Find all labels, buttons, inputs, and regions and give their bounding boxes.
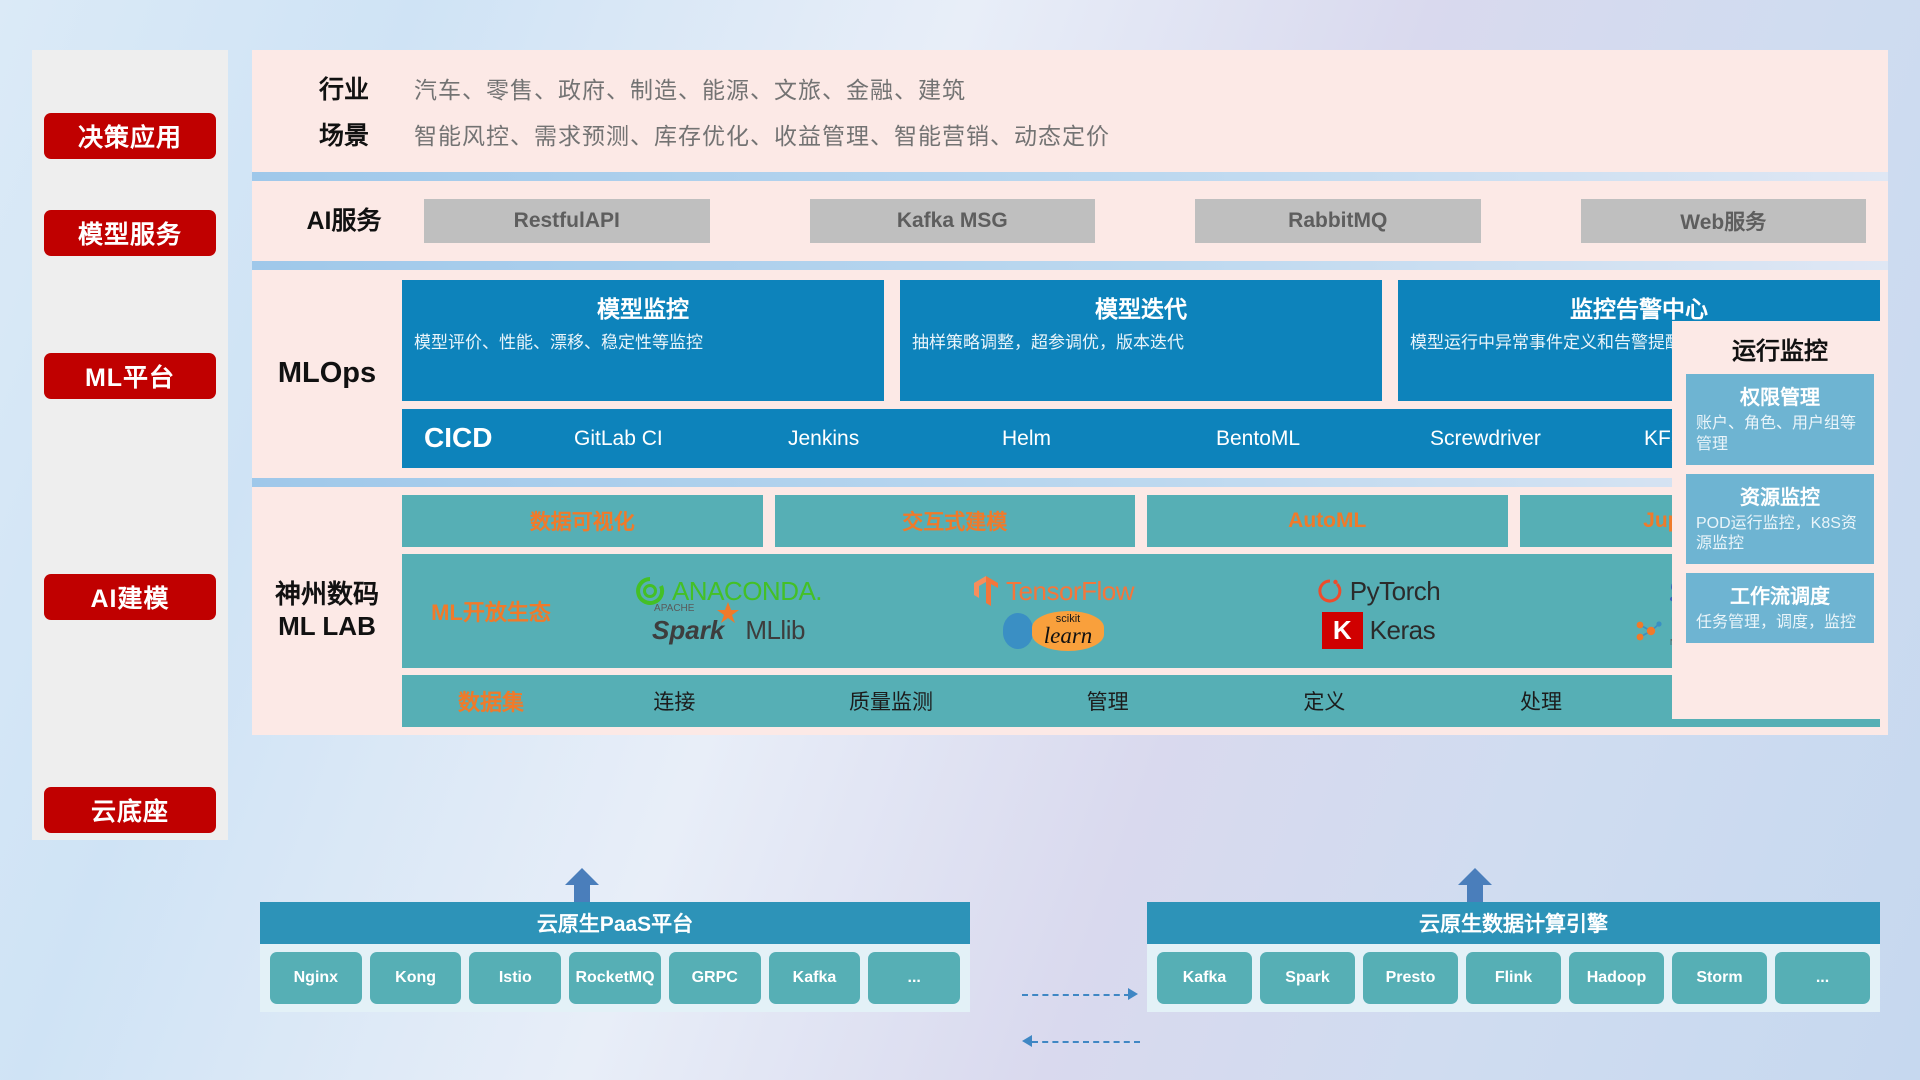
mlops-content: 模型监控 模型评价、性能、漂移、稳定性等监控 模型迭代 抽样策略调整，超参调优，…: [402, 280, 1888, 468]
paas-chip-grpc[interactable]: GRPC: [669, 952, 761, 1004]
mlops-band: MLOps 模型监控 模型评价、性能、漂移、稳定性等监控 模型迭代 抽样策略调整…: [252, 270, 1888, 478]
dataset-item-list: 连接 质量监测 管理 定义 处理 加载: [566, 686, 1866, 716]
mllib-wordmark: MLlib: [745, 615, 805, 646]
paas-chip-kafka[interactable]: Kafka: [769, 952, 861, 1004]
paas-chip-rocketmq[interactable]: RocketMQ: [569, 952, 661, 1004]
tensorflow-icon: [973, 575, 999, 607]
monitor-card-title: 权限管理: [1696, 381, 1864, 410]
logo-pytorch[interactable]: PyTorch: [1216, 576, 1541, 607]
ecosystem-logo-grid: ANACONDA. TensorFlow: [566, 571, 1866, 651]
cicd-item-bentoml[interactable]: BentoML: [1216, 428, 1430, 449]
ml-lab-label-line2: ML LAB: [275, 611, 379, 643]
logo-spark-mllib[interactable]: APACHE Spark MLlib: [566, 615, 891, 646]
cicd-item-jenkins[interactable]: Jenkins: [788, 428, 1002, 449]
mlops-card-desc: 抽样策略调整，超参调优，版本迭代: [912, 332, 1370, 355]
cicd-title: CICD: [424, 422, 574, 454]
ai-service-band: AI服务 RestfulAPI Kafka MSG RabbitMQ Web服务: [252, 181, 1888, 261]
cloud-native-data-engine-title: 云原生数据计算引擎: [1147, 902, 1880, 944]
cicd-item-list: GitLab CI Jenkins Helm BentoML Screwdriv…: [574, 428, 1858, 449]
cloud-native-data-engine-group: 云原生数据计算引擎 Kafka Spark Presto Flink Hadoo…: [1147, 902, 1880, 1012]
rail-chip-decision[interactable]: 决策应用: [44, 113, 216, 159]
keras-wordmark: Keras: [1370, 615, 1435, 646]
cloud-native-paas-chip-row: Nginx Kong Istio RocketMQ GRPC Kafka ...: [260, 944, 970, 1012]
mlops-card-desc: 模型评价、性能、漂移、稳定性等监控: [414, 332, 872, 355]
dataset-item-process[interactable]: 处理: [1433, 686, 1650, 716]
cicd-item-gitlab-ci[interactable]: GitLab CI: [574, 428, 788, 449]
paas-chip-nginx[interactable]: Nginx: [270, 952, 362, 1004]
cloud-native-data-engine-chip-row: Kafka Spark Presto Flink Hadoop Storm ..…: [1147, 944, 1880, 1012]
pytorch-wordmark: PyTorch: [1350, 576, 1440, 607]
learn-text: learn: [1044, 625, 1093, 647]
ml-open-ecosystem-bar: ML开放生态 ANACONDA.: [402, 554, 1880, 668]
scenario-label: 场景: [274, 116, 414, 152]
dataset-item-connect[interactable]: 连接: [566, 686, 783, 716]
rail-chip-model-service[interactable]: 模型服务: [44, 210, 216, 256]
industry-label: 行业: [274, 70, 414, 106]
mlops-card-model-monitor[interactable]: 模型监控 模型评价、性能、漂移、稳定性等监控: [402, 280, 884, 401]
monitor-card-permissions[interactable]: 权限管理 账户、角色、用户组等管理: [1686, 374, 1874, 465]
engine-chip-hadoop[interactable]: Hadoop: [1569, 952, 1664, 1004]
mlops-card-title: 监控告警中心: [1410, 290, 1868, 324]
industry-scenario-band: 行业 汽车、零售、政府、制造、能源、文旅、金融、建筑 场景 智能风控、需求预测、…: [252, 50, 1888, 172]
engine-chip-flink[interactable]: Flink: [1466, 952, 1561, 1004]
scikit-blob-icon: [1003, 613, 1033, 649]
cicd-item-helm[interactable]: Helm: [1002, 428, 1216, 449]
ai-service-label: AI服务: [274, 206, 414, 237]
industry-table: 行业 汽车、零售、政府、制造、能源、文旅、金融、建筑 场景 智能风控、需求预测、…: [274, 65, 1866, 157]
connector-right-arrowhead-icon: [1128, 988, 1138, 1000]
monitor-card-desc: POD运行监控，K8S资源监控: [1696, 514, 1864, 556]
mlops-card-title: 模型迭代: [912, 290, 1370, 324]
ml-lab-band: 神州数码 ML LAB 数据可视化 交互式建模 AutoML JupyterLa…: [252, 487, 1888, 735]
spark-mark: APACHE Spark: [652, 615, 728, 646]
monitor-card-title: 工作流调度: [1696, 580, 1864, 609]
scikit-learn-mark: scikit learn: [1032, 611, 1105, 651]
pytorch-icon: [1317, 576, 1343, 606]
connector-left-arrowhead-icon: [1022, 1035, 1032, 1047]
connector-left-arrow: [1032, 1041, 1140, 1043]
monitor-card-desc: 账户、角色、用户组等管理: [1696, 414, 1864, 456]
rail-chip-cloud-base[interactable]: 云底座: [44, 787, 216, 833]
architecture-stack: 行业 汽车、零售、政府、制造、能源、文旅、金融、建筑 场景 智能风控、需求预测、…: [252, 50, 1888, 735]
monitor-card-resources[interactable]: 资源监控 POD运行监控，K8S资源监控: [1686, 474, 1874, 565]
mlops-card-model-iteration[interactable]: 模型迭代 抽样策略调整，超参调优，版本迭代: [900, 280, 1382, 401]
monitor-card-desc: 任务管理，调度，监控: [1696, 613, 1864, 634]
connector-right-arrow: [1022, 994, 1130, 996]
ai-service-chip-rabbitmq[interactable]: RabbitMQ: [1195, 199, 1481, 243]
monitor-card-workflow[interactable]: 工作流调度 任务管理，调度，监控: [1686, 573, 1874, 643]
tool-interactive-modeling[interactable]: 交互式建模: [775, 495, 1136, 547]
runtime-monitoring-title: 运行监控: [1686, 331, 1874, 366]
cicd-item-screwdriver[interactable]: Screwdriver: [1430, 428, 1644, 449]
layer-rail: 决策应用 模型服务 ML平台 AI建模 云底座: [32, 50, 228, 840]
cloud-native-paas-title: 云原生PaaS平台: [260, 902, 970, 944]
cloud-foundation: 云原生PaaS平台 Nginx Kong Istio RocketMQ GRPC…: [252, 868, 1888, 1038]
logo-keras[interactable]: K Keras: [1216, 612, 1541, 649]
ml-lab-content: 数据可视化 交互式建模 AutoML JupyterLab ML开放生态 ANA…: [402, 495, 1888, 727]
ai-service-chip-kafka-msg[interactable]: Kafka MSG: [810, 199, 1096, 243]
engine-chip-spark[interactable]: Spark: [1260, 952, 1355, 1004]
cloud-native-paas-group: 云原生PaaS平台 Nginx Kong Istio RocketMQ GRPC…: [260, 902, 970, 1012]
dataset-item-define[interactable]: 定义: [1216, 686, 1433, 716]
paas-chip-kong[interactable]: Kong: [370, 952, 462, 1004]
industry-row: 行业 汽车、零售、政府、制造、能源、文旅、金融、建筑: [274, 65, 1866, 111]
anaconda-icon: [635, 576, 665, 606]
mlops-label: MLOps: [252, 280, 402, 468]
ml-lab-tool-row: 数据可视化 交互式建模 AutoML JupyterLab: [402, 495, 1880, 547]
paas-chip-istio[interactable]: Istio: [469, 952, 561, 1004]
cicd-bar: CICD GitLab CI Jenkins Helm BentoML Scre…: [402, 409, 1880, 468]
spark-apache-text: APACHE: [654, 603, 694, 614]
ml-lab-label-line1: 神州数码: [275, 579, 379, 611]
industry-values: 汽车、零售、政府、制造、能源、文旅、金融、建筑: [414, 71, 966, 105]
ai-service-chip-strip: RestfulAPI Kafka MSG RabbitMQ Web服务: [414, 199, 1866, 243]
spark-star-icon: [716, 601, 740, 625]
anaconda-wordmark: ANACONDA.: [672, 576, 822, 607]
ml-open-ecosystem-label: ML开放生态: [416, 595, 566, 627]
keras-mark-icon: K: [1322, 612, 1363, 649]
dataset-label: 数据集: [416, 685, 566, 717]
spark-wordmark: Spark: [652, 615, 724, 645]
tool-automl[interactable]: AutoML: [1147, 495, 1508, 547]
scenario-values: 智能风控、需求预测、库存优化、收益管理、智能营销、动态定价: [414, 117, 1110, 151]
dataset-bar: 数据集 连接 质量监测 管理 定义 处理 加载: [402, 675, 1880, 727]
dataset-item-quality[interactable]: 质量监测: [783, 686, 1000, 716]
mlops-card-row: 模型监控 模型评价、性能、漂移、稳定性等监控 模型迭代 抽样策略调整，超参调优，…: [402, 280, 1880, 401]
ai-service-chip-web[interactable]: Web服务: [1581, 199, 1867, 243]
rail-chip-ml-platform[interactable]: ML平台: [44, 353, 216, 399]
ml-lab-label: 神州数码 ML LAB: [252, 495, 402, 727]
runtime-monitoring-sidebar: 运行监控 权限管理 账户、角色、用户组等管理 资源监控 POD运行监控，K8S资…: [1672, 321, 1888, 719]
engine-chip-presto[interactable]: Presto: [1363, 952, 1458, 1004]
networkx-icon: [1633, 616, 1663, 646]
engine-chip-kafka[interactable]: Kafka: [1157, 952, 1252, 1004]
mlops-card-title: 模型监控: [414, 290, 872, 324]
paas-chip-more[interactable]: ...: [868, 952, 960, 1004]
dataset-item-manage[interactable]: 管理: [999, 686, 1216, 716]
rail-chip-ai-modeling[interactable]: AI建模: [44, 574, 216, 620]
engine-chip-more[interactable]: ...: [1775, 952, 1870, 1004]
logo-tensorflow[interactable]: TensorFlow: [891, 575, 1216, 607]
tool-data-visualization[interactable]: 数据可视化: [402, 495, 763, 547]
ai-service-chip-restfulapi[interactable]: RestfulAPI: [424, 199, 710, 243]
engine-chip-storm[interactable]: Storm: [1672, 952, 1767, 1004]
logo-scikit-learn[interactable]: scikit learn: [891, 611, 1216, 651]
monitor-card-title: 资源监控: [1696, 481, 1864, 510]
tensorflow-wordmark: TensorFlow: [1006, 576, 1134, 607]
scenario-row: 场景 智能风控、需求预测、库存优化、收益管理、智能营销、动态定价: [274, 111, 1866, 157]
